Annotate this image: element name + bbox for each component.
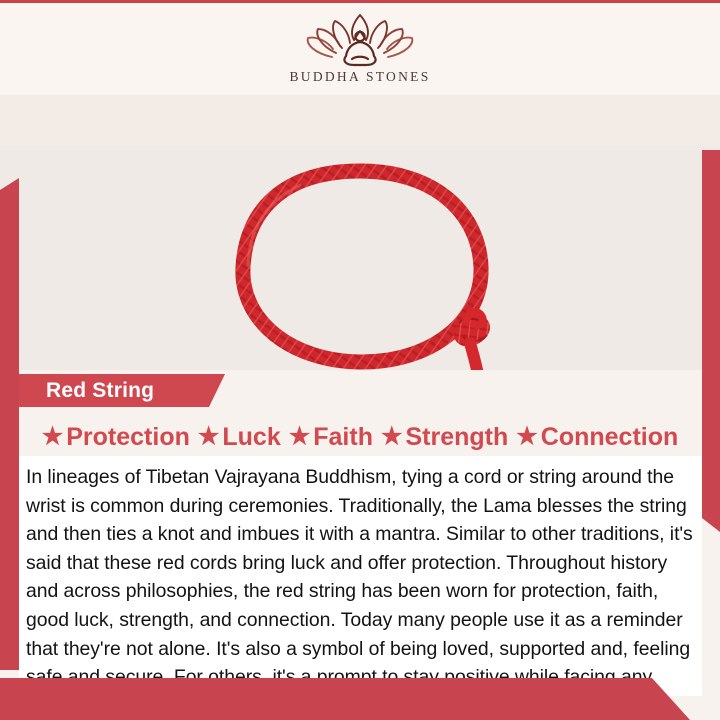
brand-wordmark: BUDDHA STONES xyxy=(0,69,720,85)
benefit-label: Luck xyxy=(222,423,280,452)
product-image xyxy=(0,145,720,370)
bottom-accent-band xyxy=(0,678,720,720)
benefit-item-protection: ★ Protection xyxy=(38,423,194,452)
brand-logo: BUDDHA STONES xyxy=(0,11,720,85)
lotus-meditation-icon xyxy=(302,11,418,67)
star-icon: ★ xyxy=(516,425,538,449)
right-accent-band xyxy=(702,150,720,532)
star-icon: ★ xyxy=(289,425,311,449)
benefits-list: ★ Protection ★ Luck ★ Faith ★ Strength ★… xyxy=(0,418,720,456)
benefit-item-luck: ★ Luck xyxy=(194,423,285,452)
benefit-item-faith: ★ Faith xyxy=(285,423,377,452)
title-banner-band: Material Features & Benefits xyxy=(0,95,720,145)
star-icon: ★ xyxy=(198,425,220,449)
benefit-item-strength: ★ Strength xyxy=(377,423,512,452)
star-icon: ★ xyxy=(381,425,403,449)
benefit-label: Connection xyxy=(541,423,679,452)
product-name-label: Red String xyxy=(46,379,154,403)
benefit-item-connection: ★ Connection xyxy=(512,423,682,452)
red-braided-string-bracelet-icon xyxy=(0,145,720,370)
benefit-label: Strength xyxy=(405,423,508,452)
star-icon: ★ xyxy=(42,425,64,449)
benefit-label: Faith xyxy=(313,423,373,452)
brand-header: BUDDHA STONES xyxy=(0,3,720,95)
benefit-label: Protection xyxy=(66,423,190,452)
infographic-page: BUDDHA STONES Material Features & Benefi… xyxy=(0,0,720,720)
